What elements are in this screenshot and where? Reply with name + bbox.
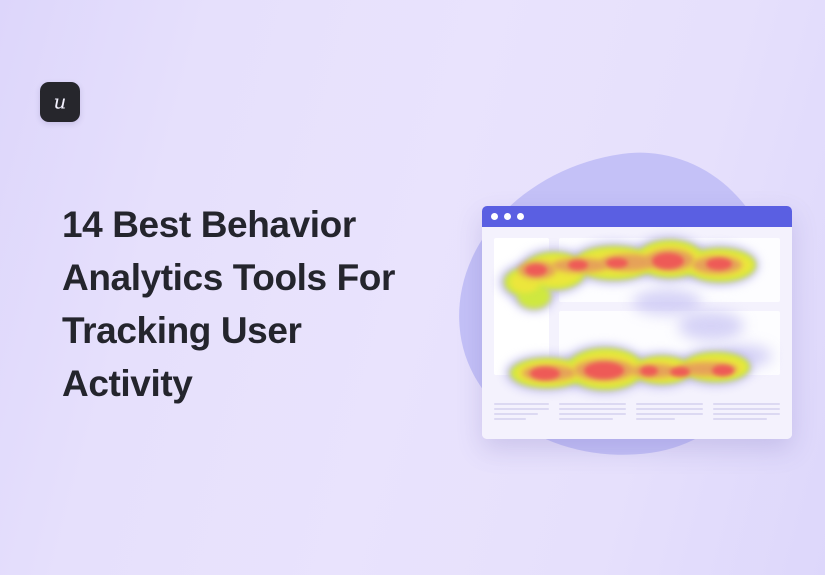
text-line [636, 403, 703, 405]
logo-glyph: u [53, 92, 66, 112]
text-line [636, 418, 675, 420]
footer-text-placeholder [494, 403, 780, 423]
footer-column [559, 403, 626, 423]
window-dot-minimize-icon [504, 213, 511, 220]
window-dot-close-icon [491, 213, 498, 220]
footer-column [494, 403, 549, 423]
heatmap-blob-top [482, 233, 772, 325]
browser-window-mockup [482, 206, 792, 439]
heatmap-browser-illustration [420, 148, 825, 478]
hero-card: u 14 Best Behavior Analytics Tools For T… [0, 0, 825, 575]
text-line [559, 413, 626, 415]
text-line [636, 408, 703, 410]
brand-logo[interactable]: u [40, 82, 80, 122]
page-title: 14 Best Behavior Analytics Tools For Tra… [62, 198, 462, 410]
heatmap-blob-bottom [500, 337, 780, 409]
browser-content [482, 227, 792, 439]
browser-titlebar [482, 206, 792, 227]
footer-column [636, 403, 703, 423]
text-line [713, 413, 780, 415]
text-line [713, 403, 780, 405]
text-line [494, 413, 538, 415]
text-line [713, 408, 780, 410]
footer-column [713, 403, 780, 423]
text-line [559, 418, 613, 420]
text-line [559, 408, 626, 410]
text-line [494, 403, 549, 405]
window-dot-maximize-icon [517, 213, 524, 220]
text-line [494, 418, 526, 420]
text-line [559, 403, 626, 405]
text-line [636, 413, 703, 415]
text-line [494, 408, 549, 410]
text-line [713, 418, 767, 420]
